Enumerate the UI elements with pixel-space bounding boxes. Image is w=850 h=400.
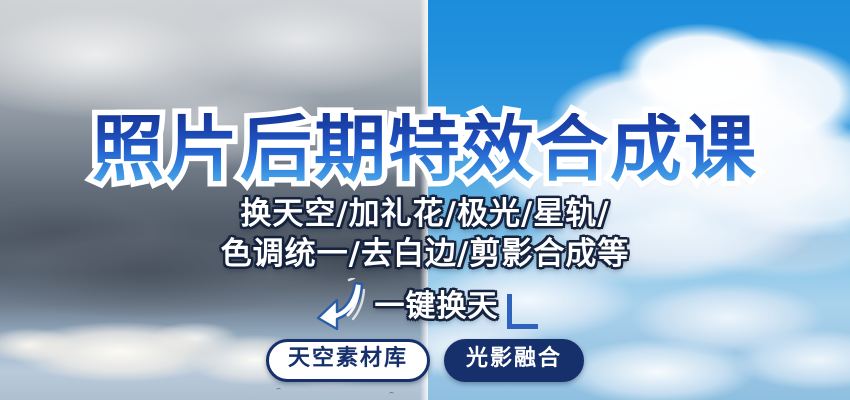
corner-bracket-icon — [507, 294, 538, 329]
page-title: 照片后期特效合成课 照片后期特效合成课 — [0, 113, 850, 185]
status-badge-light-fusion[interactable]: 光影融合 — [444, 339, 584, 382]
sky-replacement-course-banner: 照片后期特效合成课 照片后期特效合成课 换天空/加礼花/极光/星轨/ 色调统一/… — [0, 0, 850, 400]
feature-list-line-1: 换天空/加礼花/极光/星轨/ — [0, 199, 850, 230]
feature-badges: 天空素材库 光影融合 — [0, 339, 850, 382]
banner-content: 照片后期特效合成课 照片后期特效合成课 换天空/加礼花/极光/星轨/ 色调统一/… — [0, 0, 850, 400]
one-click-sky-label: 一键换天 — [375, 281, 499, 325]
status-badge-sky-library[interactable]: 天空素材库 — [266, 339, 430, 382]
curved-down-arrow-icon — [313, 278, 369, 330]
one-click-sky-row: 一键换天 — [0, 276, 850, 330]
page-title-fill: 照片后期特效合成课 — [92, 113, 758, 185]
feature-list-line-2: 色调统一/去白边/剪影合成等 — [0, 239, 850, 270]
